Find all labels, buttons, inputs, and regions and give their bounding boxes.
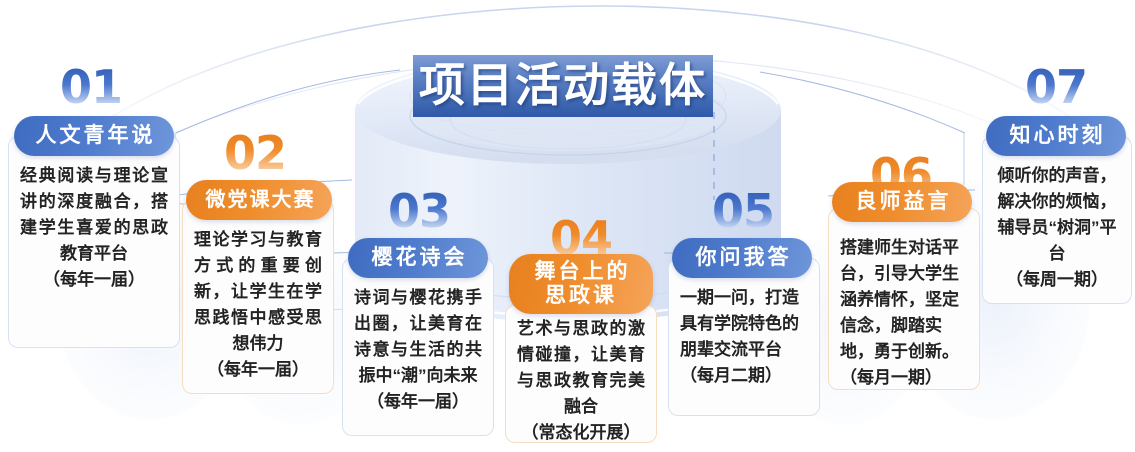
card-text-05: 一期一问，打造具有学院特色的朋辈交流平台 （每月二期） <box>680 285 808 389</box>
card-body-01: 经典阅读与理论宣讲的深度融合，搭建学生喜爱的思政教育平台 （每年一届） <box>8 136 180 348</box>
card-title-06: 良师益言 <box>853 190 952 214</box>
card-title-04: 舞台上的 思政课 <box>532 260 631 307</box>
card-body-06: 搭建师生对话平台，引导大学生涵养情怀，坚定信念，脚踏实地，勇于创新。 （每月一期… <box>828 208 980 390</box>
card-number-01: 01 <box>60 64 122 110</box>
card-title-07: 知心时刻 <box>1007 124 1106 148</box>
card-title-pill-02[interactable]: 微党课大赛 <box>186 180 332 220</box>
card-title-pill-05[interactable]: 你问我答 <box>672 238 812 278</box>
card-text-04: 艺术与思政的激情碰撞，让美育与思政教育完美融合 （常态化开展） <box>517 316 645 446</box>
card-title-pill-07[interactable]: 知心时刻 <box>986 116 1126 156</box>
card-number-03: 03 <box>388 188 450 234</box>
card-body-07: 倾听你的声音，解决你的烦恼，辅导员“树洞”平台 （每周一期） <box>982 136 1132 304</box>
main-title: 项目活动载体 <box>419 63 707 109</box>
card-title-05: 你问我答 <box>693 246 792 270</box>
card-title-03: 樱花诗会 <box>369 246 468 270</box>
card-body-03: 诗词与樱花携手出圈，让美育在诗意与生活的共振中“潮”向未来 （每年一届） <box>342 258 494 436</box>
card-title-pill-04[interactable]: 舞台上的 思政课 <box>509 254 653 314</box>
card-number-05: 05 <box>712 188 774 234</box>
card-text-02: 理论学习与教育方式的重要创新，让学生在学思践悟中感受思想伟力 （每年一届） <box>194 227 322 383</box>
card-text-06: 搭建师生对话平台，引导大学生涵养情怀，坚定信念，脚踏实地，勇于创新。 （每月一期… <box>840 235 968 391</box>
card-body-05: 一期一问，打造具有学院特色的朋辈交流平台 （每月二期） <box>668 258 820 416</box>
card-number-02: 02 <box>224 130 286 176</box>
card-title-pill-06[interactable]: 良师益言 <box>832 182 972 222</box>
card-title-pill-03[interactable]: 樱花诗会 <box>348 238 488 278</box>
card-text-07: 倾听你的声音，解决你的烦恼，辅导员“树洞”平台 （每周一期） <box>994 163 1120 293</box>
card-number-07: 07 <box>1025 64 1087 110</box>
main-title-banner: 项目活动载体 <box>413 55 713 117</box>
card-title-02: 微党课大赛 <box>203 189 316 211</box>
card-body-02: 理论学习与教育方式的重要创新，让学生在学思践悟中感受思想伟力 （每年一届） <box>182 200 334 394</box>
card-text-01: 经典阅读与理论宣讲的深度融合，搭建学生喜爱的思政教育平台 （每年一届） <box>20 163 168 293</box>
card-title-pill-01[interactable]: 人文青年说 <box>14 116 174 156</box>
card-title-01: 人文青年说 <box>33 124 156 148</box>
card-body-04: 艺术与思政的激情碰撞，让美育与思政教育完美融合 （常态化开展） <box>505 305 657 443</box>
card-text-03: 诗词与樱花携手出圈，让美育在诗意与生活的共振中“潮”向未来 （每年一届） <box>354 285 482 415</box>
infographic-canvas: 项目活动载体 01 经典阅读与理论宣讲的深度融合，搭建学生喜爱的思政教育平台 （… <box>0 0 1135 452</box>
